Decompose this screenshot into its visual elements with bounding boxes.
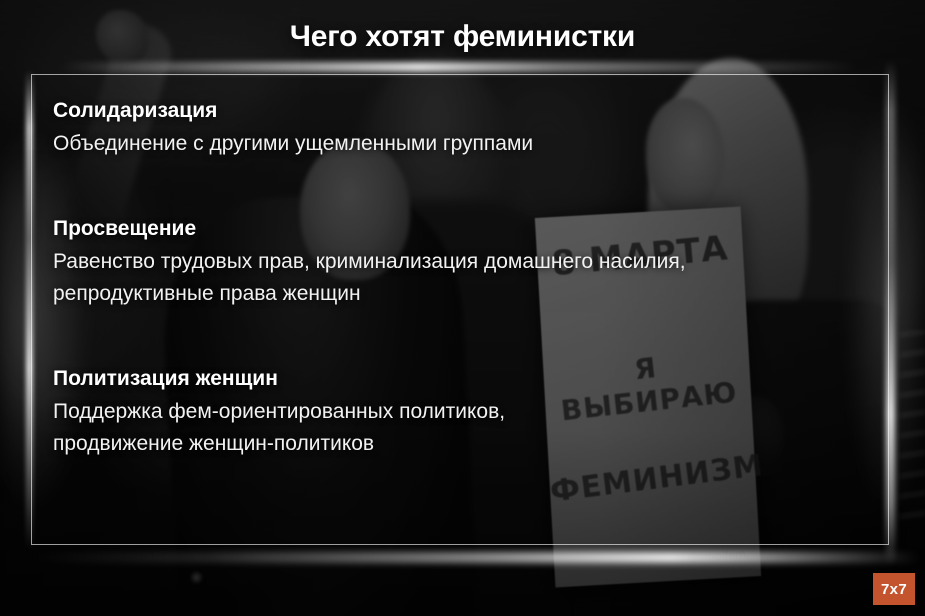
- content-blocks: Солидаризация Объединение с другими ущем…: [53, 96, 843, 460]
- block-body: Объединение с другими ущемленными группа…: [53, 128, 573, 160]
- page-title: Чего хотят феминистки: [0, 20, 925, 54]
- content-block-politizatsiya: Политизация женщин Поддержка фем-ориенти…: [53, 364, 843, 460]
- content-block-solidarizatsiya: Солидаризация Объединение с другими ущем…: [53, 96, 843, 160]
- block-heading: Политизация женщин: [53, 364, 843, 394]
- block-heading: Просвещение: [53, 214, 843, 244]
- block-heading: Солидаризация: [53, 96, 843, 126]
- block-body: Равенство трудовых прав, криминализация …: [53, 246, 748, 310]
- block-body: Поддержка фем-ориентированных политиков,…: [53, 396, 523, 460]
- protest-sign-handle: @smolfem: [687, 548, 746, 564]
- bokeh-dot: [190, 571, 203, 584]
- content-block-prosveshchenie: Просвещение Равенство трудовых прав, кри…: [53, 214, 843, 310]
- logo-7x7[interactable]: 7x7: [873, 573, 915, 605]
- slide-card: 8 МАРТА Я ВЫБИРАЮ ФЕМИНИЗМ @smolfem Чего…: [0, 0, 925, 616]
